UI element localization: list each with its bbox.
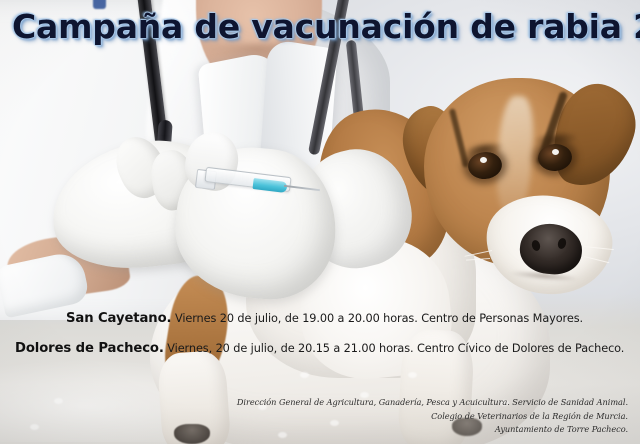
table-speckle — [408, 372, 417, 378]
dog-eye-glint-right — [552, 149, 559, 155]
event-listing: Dolores de Pacheco. Viernes, 20 de julio… — [15, 341, 624, 356]
organisers-credits: Dirección General de Agricultura, Ganade… — [237, 396, 628, 437]
event-listing: San Cayetano. Viernes 20 de julio, de 19… — [66, 311, 583, 326]
credit-line: Dirección General de Agricultura, Ganade… — [237, 396, 628, 410]
credit-line: Colegio de Veterinarios de la Región de … — [237, 410, 628, 424]
dog-eye-glint-left — [480, 157, 487, 163]
vaccination-campaign-poster: Campaña de vacunación de rabia 2018 San … — [0, 0, 640, 444]
event-details: Viernes, 20 de julio, de 20.15 a 21.00 h… — [164, 342, 625, 355]
photo-background — [0, 0, 640, 444]
event-details: Viernes 20 de julio, de 19.00 a 20.00 ho… — [171, 312, 583, 325]
poster-title: Campaña de vacunación de rabia 2018 — [12, 6, 640, 48]
table-speckle — [30, 424, 39, 430]
dog-paw-rear — [174, 424, 210, 444]
event-place-name: Dolores de Pacheco. — [15, 341, 164, 356]
event-place-name: San Cayetano. — [66, 311, 171, 326]
credit-line: Ayuntamiento de Torre Pacheco. — [237, 423, 628, 437]
table-speckle — [300, 372, 309, 378]
table-speckle — [54, 398, 63, 404]
